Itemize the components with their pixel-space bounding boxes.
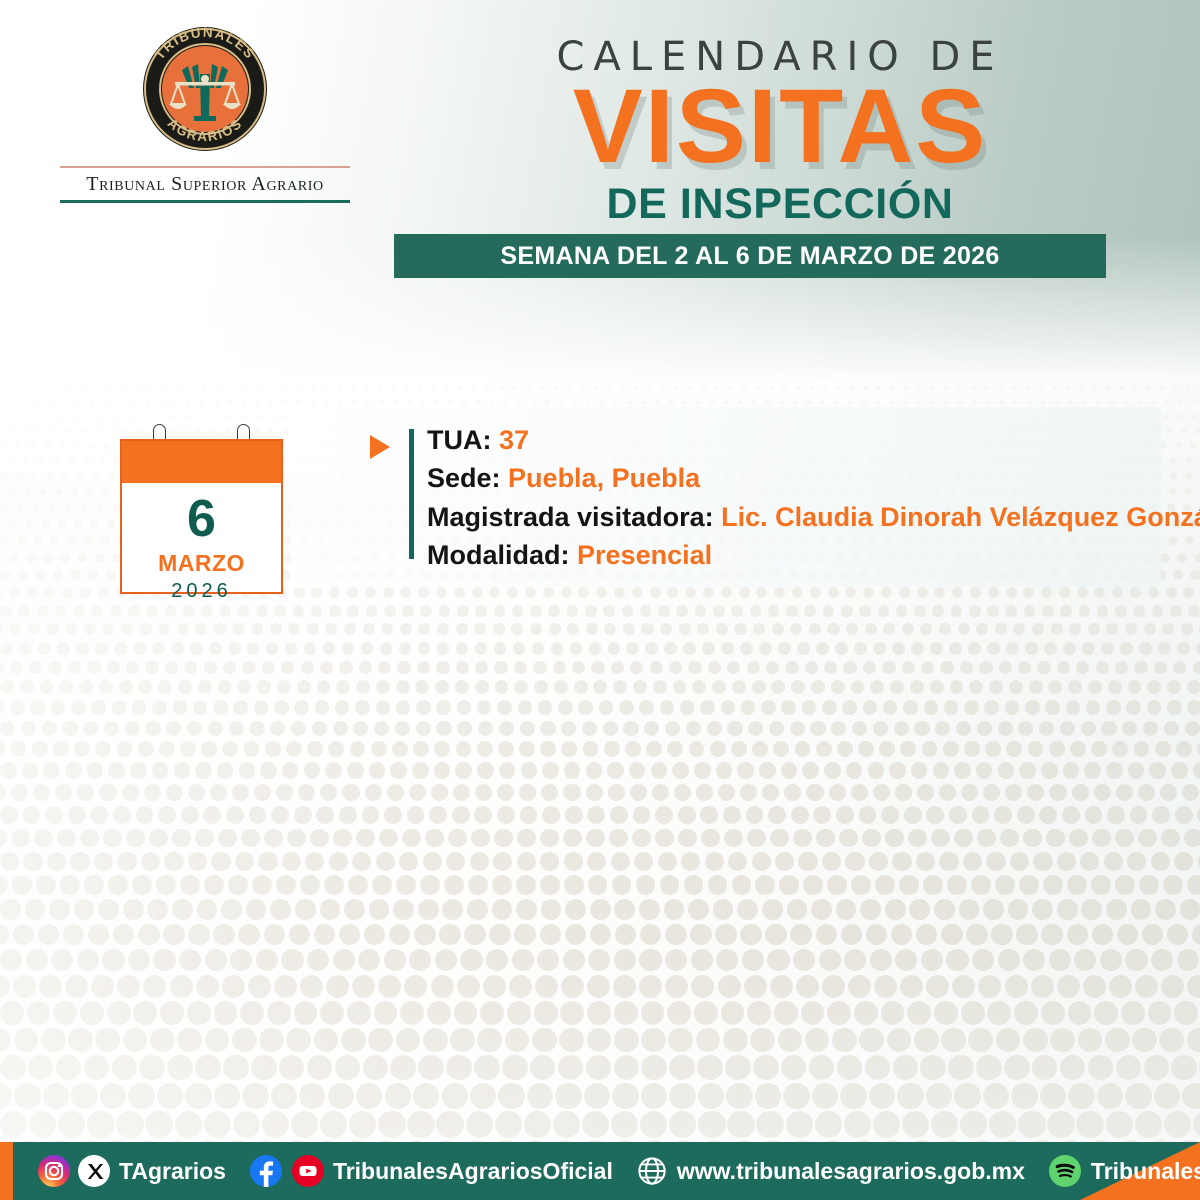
organization-logo-block: TRIBUNALES AGRARIOS Tribunal Superior Ag… <box>60 26 350 203</box>
tribunales-agrarios-seal-icon: TRIBUNALES AGRARIOS <box>142 26 268 152</box>
triangle-marker-icon <box>370 435 390 459</box>
youtube-icon[interactable] <box>292 1155 324 1187</box>
instagram-link[interactable] <box>38 1155 70 1187</box>
header-banner: TRIBUNALES AGRARIOS Tribunal Superior Ag… <box>0 0 1200 380</box>
calendar-day: 6 <box>122 493 281 545</box>
visit-details: TUA: 37 Sede: Puebla, Puebla Magistrada … <box>427 421 1147 574</box>
detail-row: Magistrada visitadora: Lic. Claudia Dino… <box>427 498 1147 536</box>
detail-value: Lic. Claudia Dinorah Velázquez González <box>721 502 1200 532</box>
calendar-date-icon: 6 MARZO 2026 <box>120 424 283 594</box>
facebook-icon[interactable] <box>250 1155 282 1187</box>
page-title: VISITAS <box>400 76 1160 179</box>
entry-accent-rule <box>409 429 414 559</box>
website-link[interactable]: www.tribunalesagrarios.gob.mx <box>637 1156 1025 1186</box>
organization-name: Tribunal Superior Agrario <box>60 168 350 200</box>
calendar-month: MARZO <box>122 550 281 577</box>
detail-label: Magistrada visitadora: <box>427 502 714 532</box>
visit-entry: 6 MARZO 2026 TUA: 37 Sede: Puebla, Puebl… <box>115 407 1161 587</box>
detail-value: Puebla, Puebla <box>508 463 700 493</box>
calendar-header-bar <box>122 441 281 483</box>
detail-label: TUA: <box>427 425 491 455</box>
spotify-link[interactable]: Tribunales Agrarios <box>1049 1155 1200 1187</box>
facebook-link[interactable] <box>250 1155 282 1187</box>
detail-row: Sede: Puebla, Puebla <box>427 459 1147 497</box>
instagram-icon[interactable] <box>38 1155 70 1187</box>
website-url: www.tribunalesagrarios.gob.mx <box>677 1158 1025 1185</box>
spotify-handle: Tribunales Agrarios <box>1091 1158 1200 1185</box>
social-handle: TAgrarios <box>119 1158 226 1185</box>
logo-divider-bottom <box>60 200 350 203</box>
globe-icon[interactable] <box>637 1156 667 1186</box>
week-range-banner: SEMANA DEL 2 AL 6 DE MARZO DE 2026 <box>394 234 1106 278</box>
title-block: CALENDARIO DE VISITAS DE INSPECCIÓN <box>400 36 1160 229</box>
youtube-link[interactable]: TribunalesAgrariosOficial <box>292 1155 613 1187</box>
page-subtitle: DE INSPECCIÓN <box>400 181 1160 228</box>
calendar-year: 2026 <box>122 580 281 603</box>
detail-label: Modalidad: <box>427 540 570 570</box>
meta-handle: TribunalesAgrariosOficial <box>333 1158 613 1185</box>
calendar-body: 6 MARZO 2026 <box>120 439 283 594</box>
footer-bar: TAgrarios TribunalesAgrariosOficial <box>0 1142 1200 1200</box>
detail-row: Modalidad: Presencial <box>427 536 1147 574</box>
x-twitter-icon[interactable] <box>78 1155 110 1187</box>
detail-value: Presencial <box>577 540 712 570</box>
week-range-label: SEMANA DEL 2 AL 6 DE MARZO DE 2026 <box>500 242 999 271</box>
detail-row: TUA: 37 <box>427 421 1147 459</box>
detail-value: 37 <box>499 425 529 455</box>
spotify-icon[interactable] <box>1049 1155 1081 1187</box>
x-twitter-link[interactable]: TAgrarios <box>78 1155 226 1187</box>
detail-label: Sede: <box>427 463 501 493</box>
